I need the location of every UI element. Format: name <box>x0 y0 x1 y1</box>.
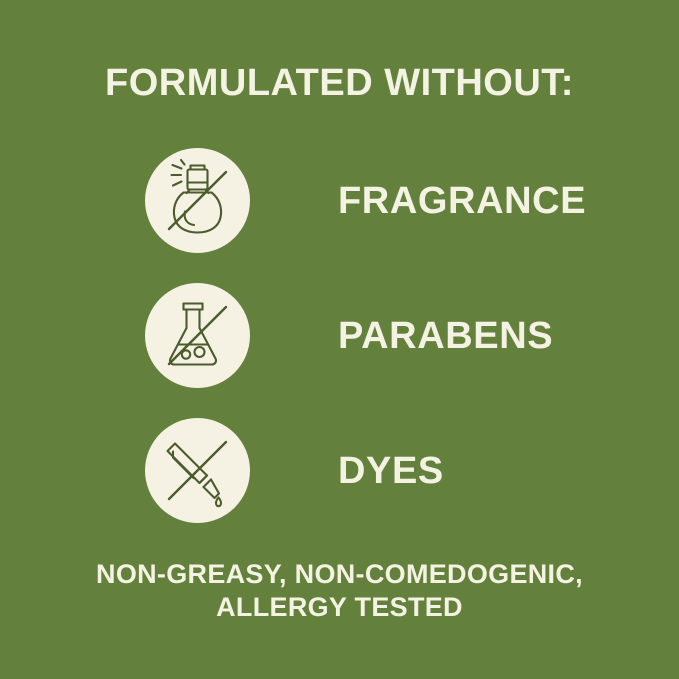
claims-list: FRAGRANCE <box>0 148 679 553</box>
list-item-label: FRAGRANCE <box>338 182 586 220</box>
list-item-fragrance: FRAGRANCE <box>0 148 679 253</box>
no-flask-icon <box>145 283 250 388</box>
footer-line-2: ALLERGY TESTED <box>0 591 679 624</box>
list-item-label: DYES <box>338 452 444 490</box>
formulated-without-panel: FORMULATED WITHOUT: <box>0 0 679 679</box>
footer-line-1: NON-GREASY, NON-COMEDOGENIC, <box>0 558 679 591</box>
list-item-parabens: PARABENS <box>0 283 679 388</box>
list-item-label: PARABENS <box>338 317 553 355</box>
no-fragrance-bottle-icon <box>145 148 250 253</box>
no-dropper-icon <box>145 418 250 523</box>
page-title: FORMULATED WITHOUT: <box>0 64 679 102</box>
list-item-dyes: DYES <box>0 418 679 523</box>
footer-claims: NON-GREASY, NON-COMEDOGENIC, ALLERGY TES… <box>0 558 679 624</box>
